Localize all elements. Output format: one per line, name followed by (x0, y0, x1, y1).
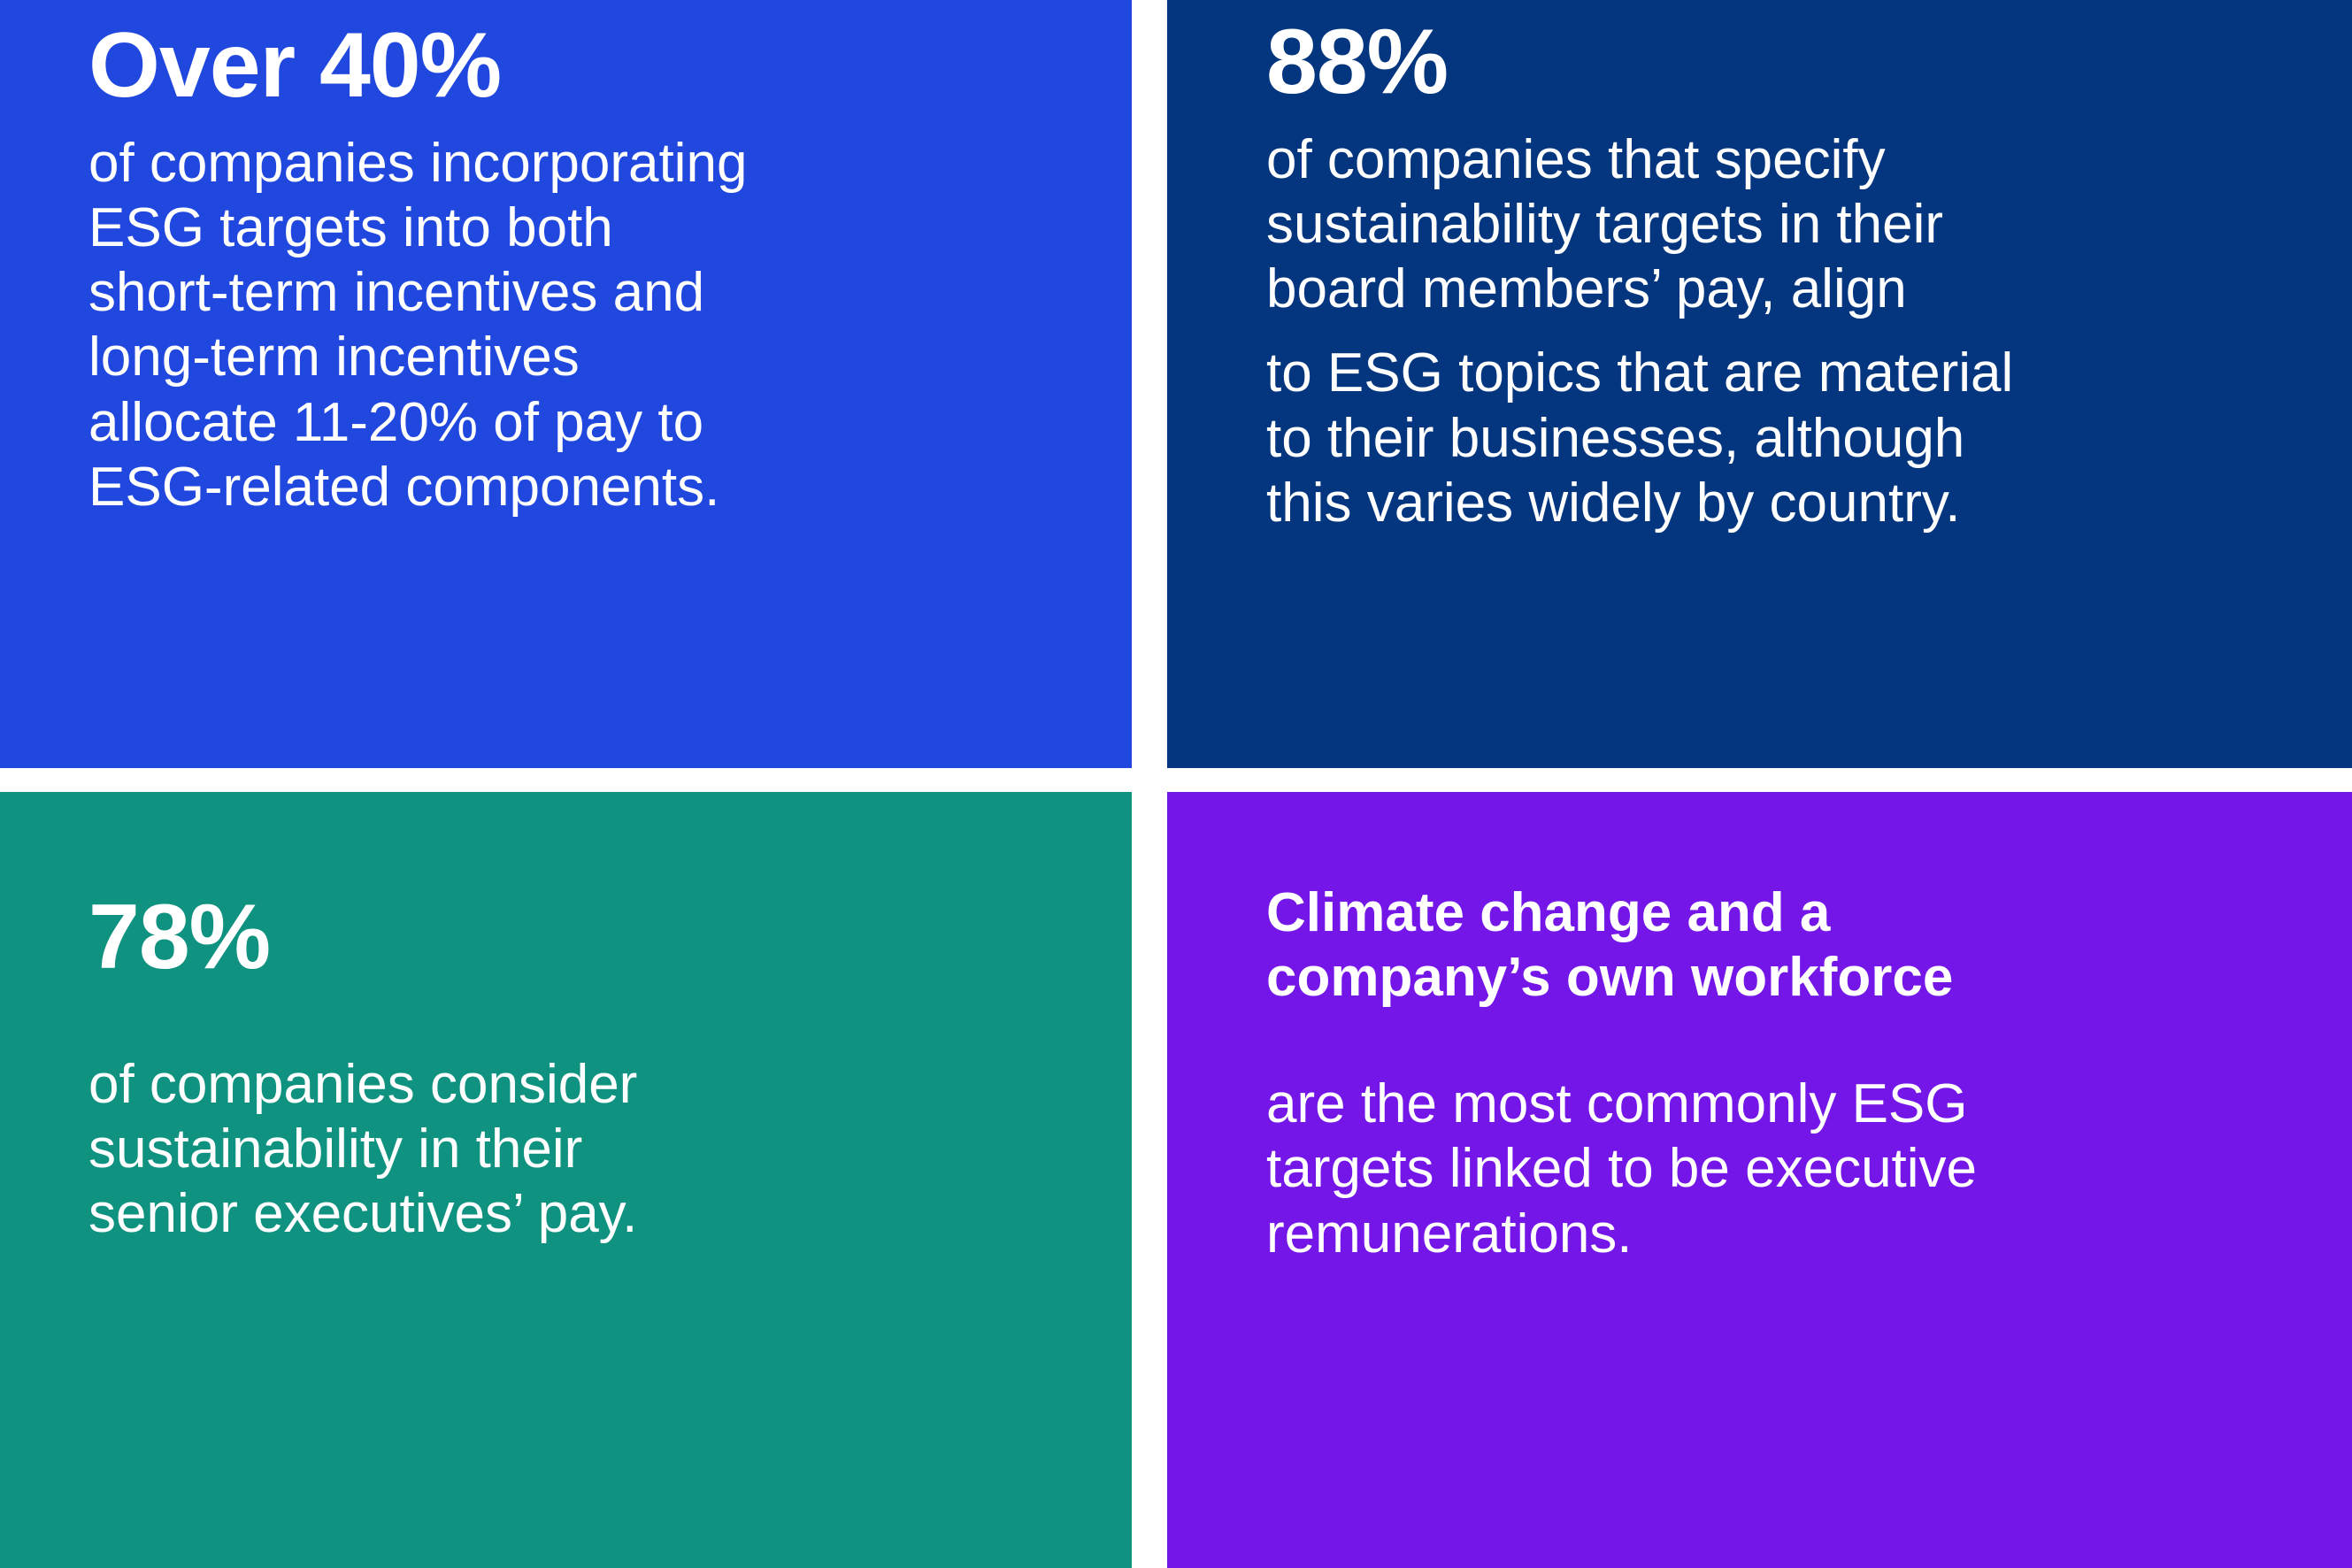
stat-body-most-common-esg-targets: are the most commonly ESG targets linked… (1266, 1072, 2317, 1265)
stat-headline-over-40: Over 40% (88, 19, 1079, 111)
stat-headline-88-percent: 88% (1266, 16, 2325, 108)
card-content-bottom-right: Climate change and a company’s own workf… (1266, 880, 2317, 1266)
horizontal-divider (0, 768, 2352, 792)
stat-headline-78-percent: 78% (88, 891, 1079, 983)
stat-body-senior-executive-pay: of companies consider sustainability in … (88, 1052, 1079, 1246)
stat-body-esg-incentive-allocation: of companies incorporating ESG targets i… (88, 131, 1079, 519)
stat-body-board-pay-first: of companies that specify sustainability… (1266, 127, 2325, 321)
stat-subhead-climate-workforce: Climate change and a company’s own workf… (1266, 880, 2317, 1010)
stat-card-esg-incentive-allocation: Over 40% of companies incorporating ESG … (0, 0, 1132, 768)
card-content-bottom-left: 78% of companies consider sustainability… (88, 891, 1079, 1246)
card-content-top-right: 88% of companies that specify sustainabi… (1266, 16, 2325, 535)
stat-card-board-pay-material-esg: 88% of companies that specify sustainabi… (1167, 0, 2352, 768)
stat-card-senior-executive-pay: 78% of companies consider sustainability… (0, 792, 1132, 1568)
card-content-top-left: Over 40% of companies incorporating ESG … (88, 19, 1079, 519)
stat-card-grid: Over 40% of companies incorporating ESG … (0, 0, 2352, 1568)
stat-body-board-pay-second: to ESG topics that are material to their… (1266, 341, 2325, 534)
stat-card-most-common-esg-targets: Climate change and a company’s own workf… (1167, 792, 2352, 1568)
